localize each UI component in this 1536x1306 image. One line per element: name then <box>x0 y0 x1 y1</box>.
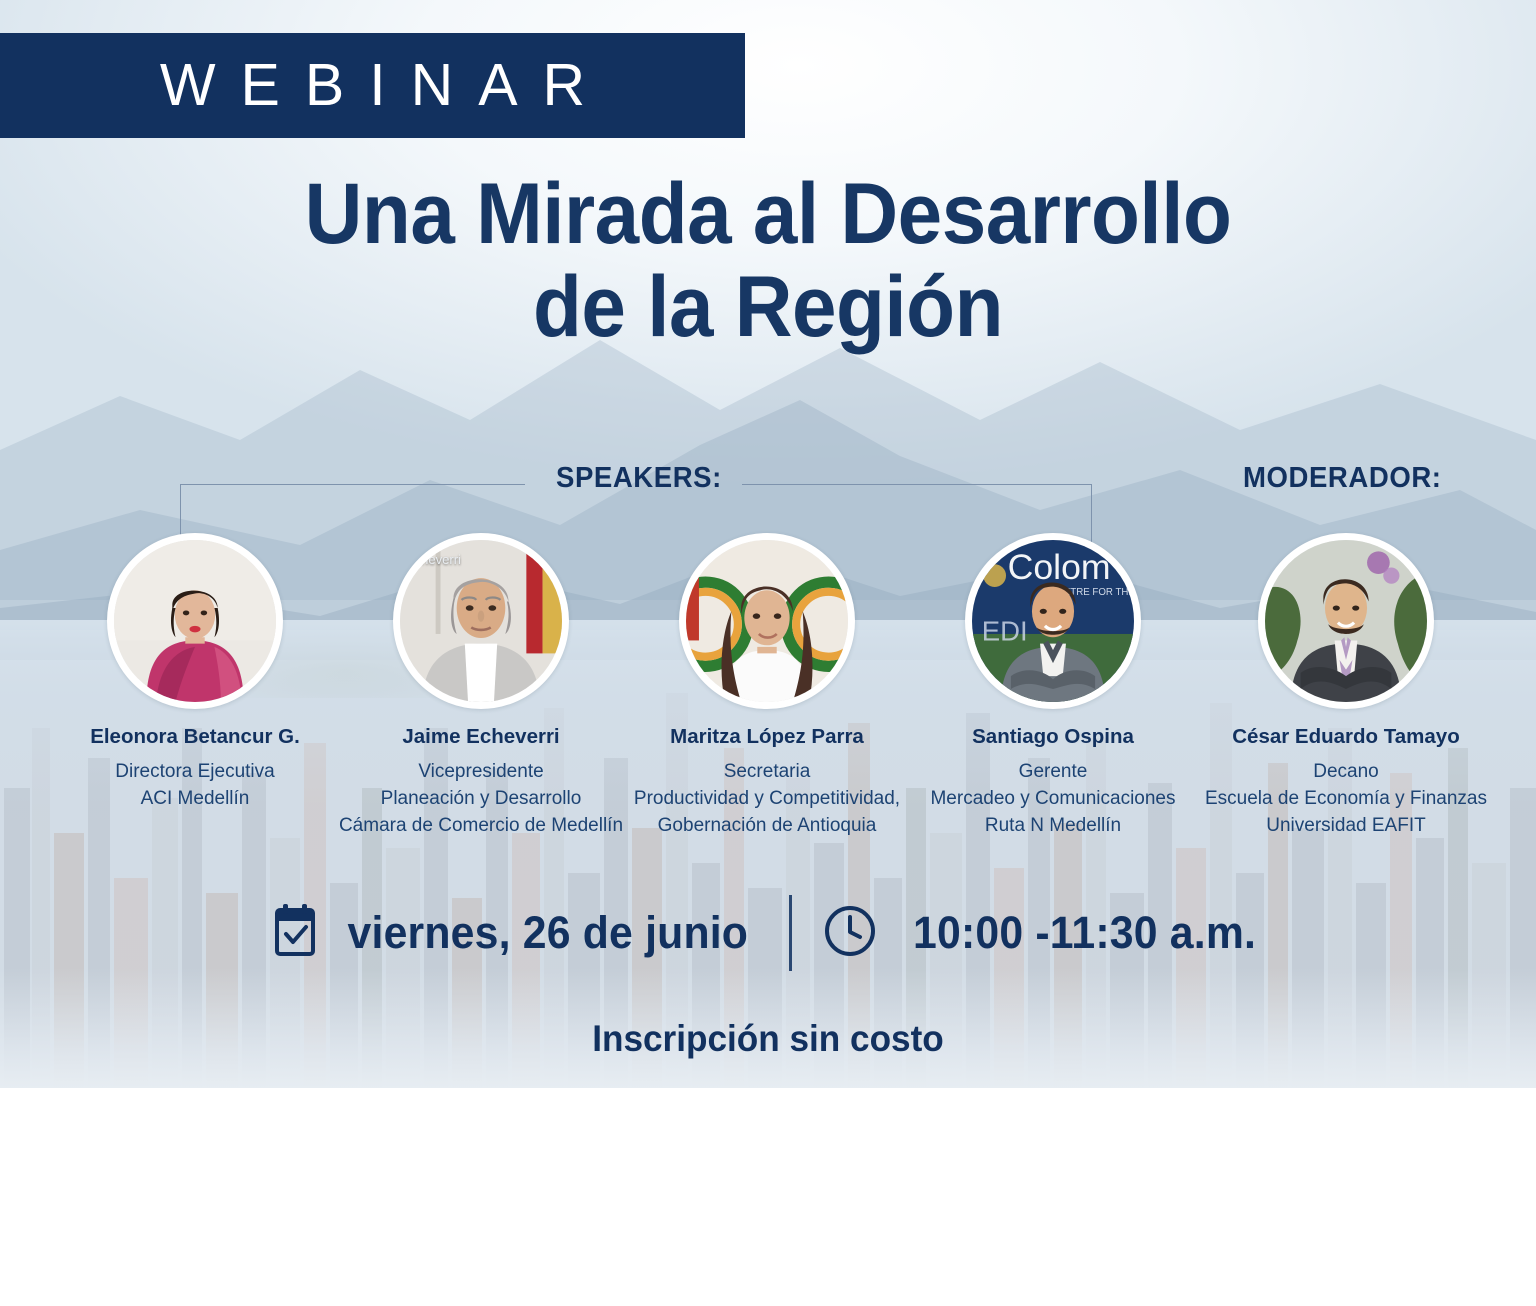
avatar: Colom CENTRE FOR THE FOURTH INDUSTRIAL E… <box>965 533 1141 709</box>
person-role: Gerente Mercadeo y Comunicaciones Ruta N… <box>903 759 1203 840</box>
moderator-label: MODERADOR: <box>1243 462 1442 495</box>
svg-text:Colom: Colom <box>1008 547 1111 587</box>
person-role-line: Gobernación de Antioquia <box>617 813 917 840</box>
registration-price: Inscripción sin costo <box>38 1018 1497 1060</box>
person-role: Secretaria Productividad y Competitivida… <box>617 759 917 840</box>
person-name: César Eduardo Tamayo <box>1196 725 1496 750</box>
person-card-jaime-echeverri: Echeverri <box>331 533 631 840</box>
speakers-label: SPEAKERS: <box>556 462 722 495</box>
datetime-divider <box>789 895 792 971</box>
video-call-name-overlay: Echeverri <box>406 552 461 567</box>
person-card-maritza-lopez-parra: Maritza López Parra Secretaria Productiv… <box>617 533 917 840</box>
footer-logos <box>0 1088 1536 1306</box>
avatar <box>1258 533 1434 709</box>
event-datetime-row: viernes, 26 de junio 10:00 -11:30 a.m. <box>0 895 1536 971</box>
person-card-santiago-ospina: Colom CENTRE FOR THE FOURTH INDUSTRIAL E… <box>903 533 1203 840</box>
person-name: Santiago Ospina <box>903 725 1203 750</box>
avatar <box>107 533 283 709</box>
person-role-line: Gerente <box>903 759 1203 786</box>
event-time-block: 10:00 -11:30 a.m. <box>822 903 1265 964</box>
person-role-line: Planeación y Desarrollo <box>331 786 631 813</box>
person-card-eleonora-betancur: Eleonora Betancur G. Directora Ejecutiva… <box>45 533 345 813</box>
person-role-line: Escuela de Economía y Finanzas <box>1196 786 1496 813</box>
avatar <box>679 533 855 709</box>
event-time-text: 10:00 -11:30 a.m. <box>913 907 1256 959</box>
person-role-line: Mercadeo y Comunicaciones <box>903 786 1203 813</box>
title-line-1: Una Mirada al Desarrollo <box>54 168 1482 261</box>
person-role: Vicepresidente Planeación y Desarrollo C… <box>331 759 631 840</box>
person-role-line: Universidad EAFIT <box>1196 813 1496 840</box>
person-role-line: Directora Ejecutiva <box>45 759 345 786</box>
person-role-line: Vicepresidente <box>331 759 631 786</box>
people-row: Eleonora Betancur G. Directora Ejecutiva… <box>0 533 1536 833</box>
person-role-line: Productividad y Competitividad, <box>617 786 917 813</box>
person-role-line: Secretaria <box>617 759 917 786</box>
calendar-check-icon <box>271 903 319 964</box>
webinar-poster: WEBINAR Una Mirada al Desarrollo de la R… <box>0 0 1536 1306</box>
event-date-block: viernes, 26 de junio <box>271 903 759 964</box>
person-card-cesar-eduardo-tamayo: César Eduardo Tamayo Decano Escuela de E… <box>1196 533 1496 840</box>
title-line-2: de la Región <box>54 261 1482 354</box>
person-role-line: Cámara de Comercio de Medellín <box>331 813 631 840</box>
person-role-line: Decano <box>1196 759 1496 786</box>
webinar-ribbon-label: WEBINAR <box>135 56 610 115</box>
clock-icon <box>822 903 878 964</box>
page-title: Una Mirada al Desarrollo de la Región <box>54 168 1482 354</box>
event-date-text: viernes, 26 de junio <box>348 907 749 959</box>
person-name: Jaime Echeverri <box>331 725 631 750</box>
webinar-ribbon: WEBINAR <box>0 33 745 138</box>
avatar: Echeverri <box>393 533 569 709</box>
person-role: Decano Escuela de Economía y Finanzas Un… <box>1196 759 1496 840</box>
person-role-line: ACI Medellín <box>45 786 345 813</box>
person-name: Eleonora Betancur G. <box>45 725 345 750</box>
person-role: Directora Ejecutiva ACI Medellín <box>45 759 345 813</box>
person-name: Maritza López Parra <box>617 725 917 750</box>
person-role-line: Ruta N Medellín <box>903 813 1203 840</box>
svg-text:EDI: EDI <box>982 615 1028 646</box>
